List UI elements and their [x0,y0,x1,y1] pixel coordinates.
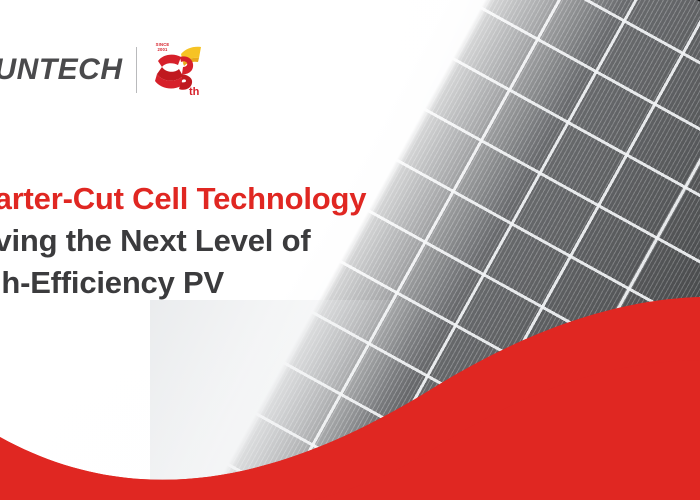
headline-line-2: Driving the Next Level of [0,220,366,262]
banner-canvas: SUNTECH th SINCE 2001 Quarter [0,0,700,500]
svg-text:th: th [189,86,200,98]
headline-block: Quarter-Cut Cell Technology Driving the … [0,178,366,304]
logo-divider [136,47,137,93]
anniversary-since-label: SINCE 2001 [153,42,173,53]
headline-line-1: Quarter-Cut Cell Technology [0,178,366,220]
since-year: 2001 [153,47,173,52]
anniversary-25th-emblem: th SINCE 2001 [150,40,208,100]
brand-wordmark: SUNTECH [0,55,123,85]
brand-logo-lockup[interactable]: SUNTECH th SINCE 2001 [0,40,208,100]
headline-line-3: High-Efficiency PV [0,262,366,304]
